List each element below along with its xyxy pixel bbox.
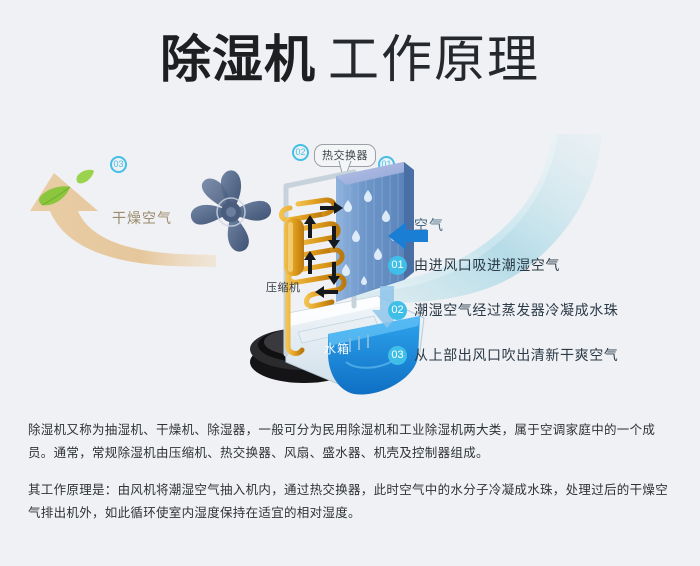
- water-tank-label: 水箱: [324, 340, 350, 357]
- body-paragraph-1: 除湿机又称为抽湿机、干燥机、除湿器，一般可分为民用除湿机和工业除湿机两大类，属于…: [28, 418, 674, 464]
- body-paragraph-2: 其工作原理是：由风机将潮湿空气抽入机内，通过热交换器，此时空气中的水分子冷凝成水…: [28, 478, 674, 524]
- legend-label-02: 潮湿空气经过蒸发器冷凝成水珠: [414, 300, 618, 320]
- page-root: 除湿机工作原理 01 潮湿空气: [0, 0, 700, 566]
- diagram-badge-03: 03: [110, 156, 127, 173]
- dry-air-label: 干燥空气: [112, 208, 172, 228]
- compressor-body: [284, 218, 304, 276]
- legend-badge-01: 01: [388, 256, 407, 275]
- legend-item-02: 02 潮湿空气经过蒸发器冷凝成水珠: [388, 299, 688, 321]
- legend-item-03: 03 从上部出风口吹出清新干爽空气: [388, 344, 688, 366]
- legend-label-01: 由进风口吸进潮湿空气: [414, 255, 560, 275]
- compressor-label: 压缩机: [266, 279, 301, 295]
- page-title-primary: 除湿机: [160, 31, 316, 90]
- legend-list: 01 由进风口吸进潮湿空气 02 潮湿空气经过蒸发器冷凝成水珠 03 从上部出风…: [388, 254, 688, 389]
- fan-icon: [176, 160, 286, 268]
- legend-label-03: 从上部出风口吹出清新干爽空气: [414, 345, 618, 365]
- legend-badge-03: 03: [388, 346, 407, 365]
- legend-item-01: 01 由进风口吸进潮湿空气: [388, 254, 688, 276]
- legend-badge-02: 02: [388, 301, 407, 320]
- page-title: 除湿机工作原理: [0, 34, 700, 86]
- page-title-secondary: 工作原理: [328, 31, 540, 88]
- diagram-badge-03-number: 03: [110, 156, 127, 173]
- body-copy: 除湿机又称为抽湿机、干燥机、除湿器，一般可分为民用除湿机和工业除湿机两大类，属于…: [28, 418, 674, 538]
